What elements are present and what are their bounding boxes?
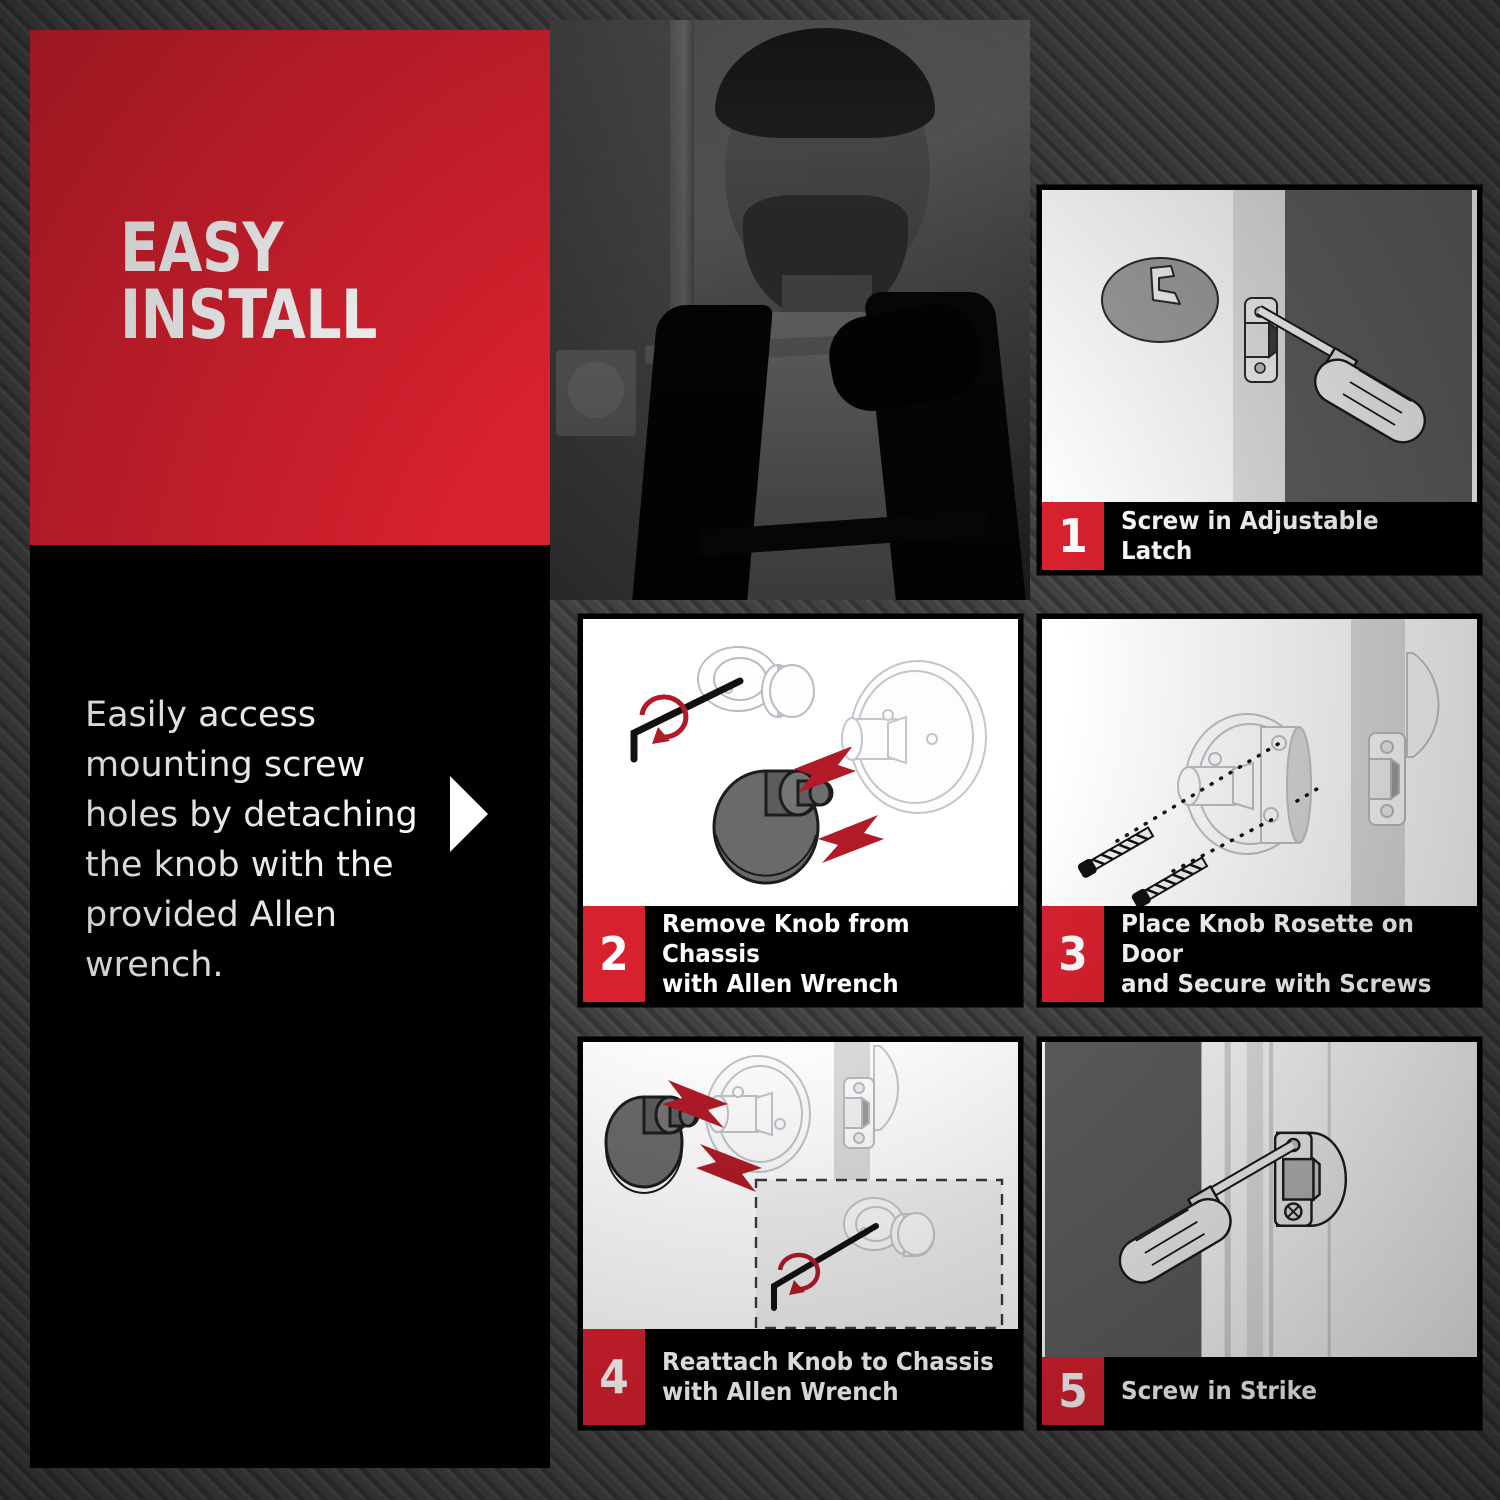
step-3-caption: 3 Place Knob Rosette on Doorand Secure w… [1042, 906, 1477, 1002]
step-panel-3: 3 Place Knob Rosette on Doorand Secure w… [1037, 614, 1482, 1007]
step-panel-4: 4 Reattach Knob to Chassiswith Allen Wre… [578, 1037, 1023, 1430]
photo-shade-overlay [550, 20, 1030, 600]
headline-line-2: INSTALL [120, 276, 377, 355]
step-1-label-wrap: Screw in Adjustable Latch [1104, 502, 1477, 570]
description-black-panel: Easily access mounting screw holes by de… [30, 545, 550, 1468]
step-3-label: Place Knob Rosette on Doorand Secure wit… [1121, 909, 1456, 999]
step-1-caption: 1 Screw in Adjustable Latch [1042, 502, 1477, 570]
step-panel-2: 2 Remove Knob from Chassiswith Allen Wre… [578, 614, 1023, 1007]
step-2-label: Remove Knob from Chassiswith Allen Wrenc… [662, 909, 997, 999]
step-3-label-line2: and Secure with Screws [1121, 969, 1431, 998]
step-3-number-badge: 3 [1042, 906, 1104, 1002]
step-1-illustration [1042, 190, 1477, 502]
step-2-number-badge: 2 [583, 906, 645, 1002]
step-2-illustration [583, 619, 1018, 906]
step-1-label: Screw in Adjustable Latch [1121, 506, 1456, 566]
step-3-label-wrap: Place Knob Rosette on Doorand Secure wit… [1104, 906, 1477, 1002]
step-4-label-wrap: Reattach Knob to Chassiswith Allen Wrenc… [645, 1329, 1018, 1425]
step-2-label-line1: Remove Knob from Chassis [662, 909, 910, 968]
step-2-label-wrap: Remove Knob from Chassiswith Allen Wrenc… [645, 906, 1018, 1002]
step-panel-1: 1 Screw in Adjustable Latch [1037, 185, 1482, 575]
headline-red-panel: EASYINSTALL [30, 30, 550, 545]
step-5-label: Screw in Strike [1121, 1376, 1317, 1406]
step-2-caption: 2 Remove Knob from Chassiswith Allen Wre… [583, 906, 1018, 1002]
step-5-number-badge: 5 [1042, 1357, 1104, 1425]
step-4-label-line2: with Allen Wrench [662, 1377, 899, 1406]
step-4-label-line1: Reattach Knob to Chassis [662, 1347, 994, 1376]
step-3-label-line1: Place Knob Rosette on Door [1121, 909, 1414, 968]
step-panel-5: 5 Screw in Strike [1037, 1037, 1482, 1430]
step-4-illustration [583, 1042, 1018, 1329]
page-title: EASYINSTALL [120, 215, 501, 350]
step-1-number-badge: 1 [1042, 502, 1104, 570]
step-4-label: Reattach Knob to Chassiswith Allen Wrenc… [662, 1347, 994, 1407]
step-5-illustration [1042, 1042, 1477, 1357]
description-text: Easily access mounting screw holes by de… [85, 690, 435, 990]
step-5-label-wrap: Screw in Strike [1104, 1357, 1477, 1425]
step-5-caption: 5 Screw in Strike [1042, 1357, 1477, 1425]
step-4-caption: 4 Reattach Knob to Chassiswith Allen Wre… [583, 1329, 1018, 1425]
play-triangle-icon [450, 776, 488, 852]
step-2-label-line2: with Allen Wrench [662, 969, 899, 998]
step-4-number-badge: 4 [583, 1329, 645, 1425]
step-3-illustration [1042, 619, 1477, 906]
hero-photo [550, 20, 1030, 600]
